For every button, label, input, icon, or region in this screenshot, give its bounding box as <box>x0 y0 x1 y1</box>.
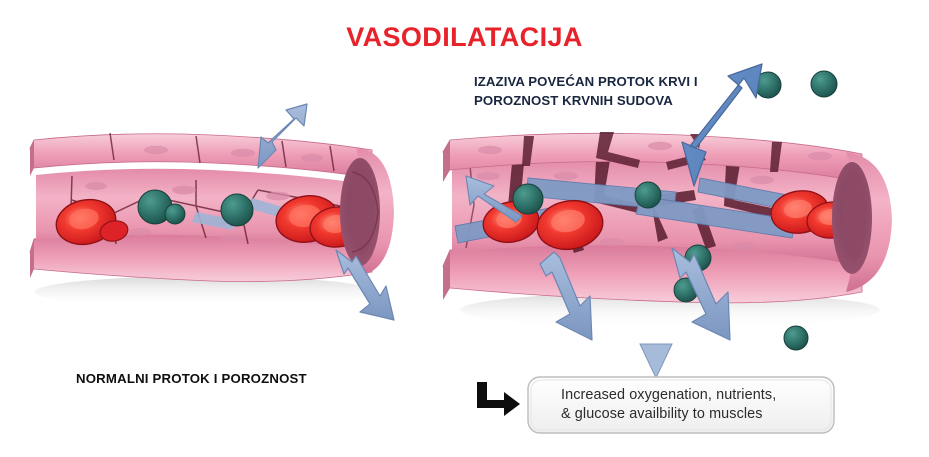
callout-line2: & glucose availbility to muscles <box>561 406 763 422</box>
right-vessel-group <box>443 64 892 378</box>
callout-pointer-arrow <box>640 344 672 378</box>
figure-title: VASODILATACIJA <box>0 22 929 53</box>
right-panel-caption-line2: POROZNOST KRVNIH SUDOVA <box>474 93 673 108</box>
right-vessel-cut-end-top <box>443 140 450 182</box>
right-panel-caption-line1: IZAZIVA POVEĆAN PROTOK KRVI I <box>474 74 698 89</box>
left-vessel-cut-end-top <box>30 140 34 176</box>
callout-text: Increased oxygenation, nutrients, & gluc… <box>561 386 776 424</box>
escaped-white-cell-3 <box>784 326 808 350</box>
left-white-blood-cell-2 <box>221 194 253 226</box>
left-vessel-group <box>30 104 394 320</box>
escaped-white-cell-2 <box>811 71 837 97</box>
right-white-blood-cell-1 <box>513 184 543 214</box>
callout-line1: Increased oxygenation, nutrients, <box>561 387 776 403</box>
right-white-blood-cell-2 <box>635 182 661 208</box>
left-panel-caption: NORMALNI PROTOK I POROZNOST <box>76 371 307 386</box>
vasodilation-illustration <box>0 0 929 457</box>
figure-canvas: VASODILATACIJA IZAZIVA POVEĆAN PROTOK KR… <box>0 0 929 457</box>
turn-right-arrow-icon <box>477 382 520 416</box>
right-panel-caption: IZAZIVA POVEĆAN PROTOK KRVI I POROZNOST … <box>474 72 698 110</box>
